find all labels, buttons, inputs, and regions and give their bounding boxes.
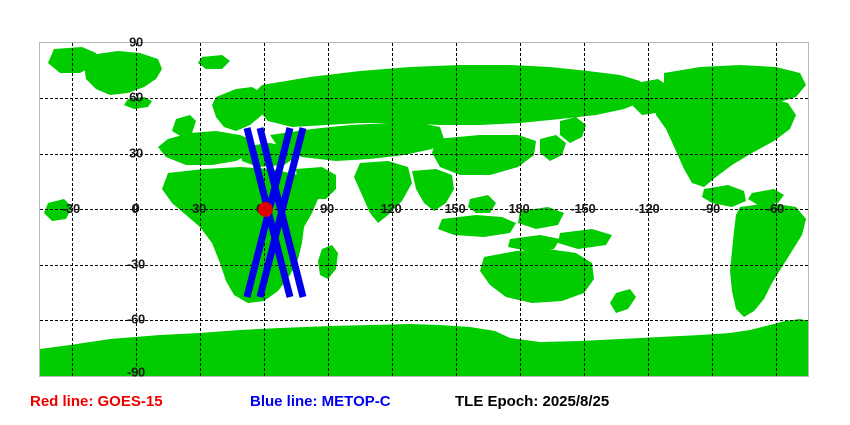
lon-tick-180: 180 <box>509 201 530 216</box>
goes-15-marker <box>258 202 273 217</box>
lon-tick--30: -30 <box>62 201 80 216</box>
lon-tick-90: 90 <box>320 201 334 216</box>
lat-tick-90: 90 <box>129 35 143 50</box>
legend-blue-line: Blue line: METOP-C <box>250 393 391 410</box>
lat-tick-60: 60 <box>129 90 143 105</box>
world-map-landmasses <box>40 43 808 376</box>
legend-tle-epoch: TLE Epoch: 2025/8/25 <box>455 393 609 410</box>
lat-tick-30: 30 <box>129 146 143 161</box>
lon-tick--150: -150 <box>571 201 596 216</box>
legend: Red line: GOES-15 Blue line: METOP-C TLE… <box>0 393 850 425</box>
world-map-plot <box>39 42 809 377</box>
legend-red-line: Red line: GOES-15 <box>30 393 163 410</box>
lon-tick-30: 30 <box>192 201 206 216</box>
lat-tick--60: -60 <box>127 312 145 327</box>
lon-tick--90: -90 <box>702 201 720 216</box>
lon-tick-150: 150 <box>445 201 466 216</box>
lat-tick-0: 0 <box>133 201 140 216</box>
lon-tick--60: -60 <box>766 201 784 216</box>
lon-tick-120: 120 <box>381 201 402 216</box>
lon-tick--120: -120 <box>635 201 660 216</box>
lat-tick--90: -90 <box>127 365 145 380</box>
satellite-ground-track-view: -30 0 30 60 90 120 150 180 -150 -120 -90… <box>0 0 850 425</box>
lat-tick--30: -30 <box>127 257 145 272</box>
